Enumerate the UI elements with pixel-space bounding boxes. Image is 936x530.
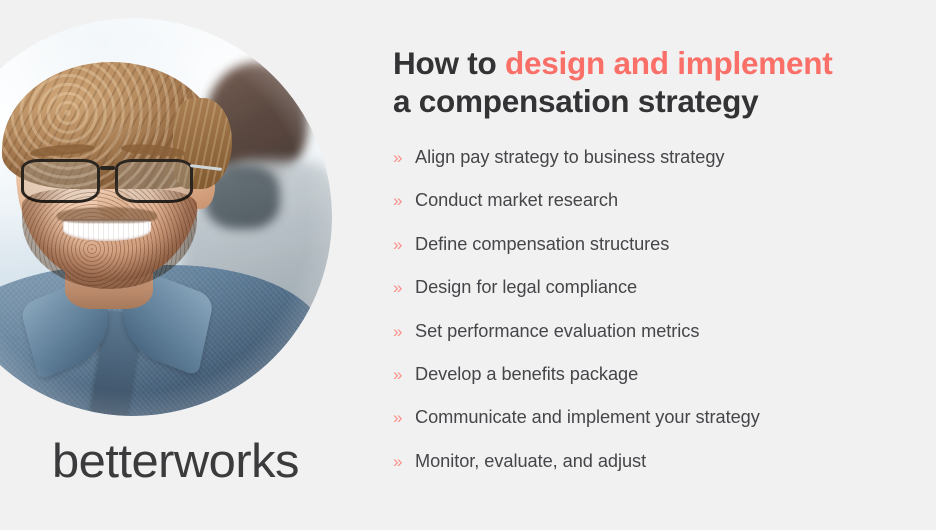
chevron-double-right-icon: » xyxy=(393,364,415,386)
list-item: » Monitor, evaluate, and adjust xyxy=(393,450,913,473)
steps-list: » Align pay strategy to business strateg… xyxy=(393,146,913,473)
slide-canvas: betterworks How to design and implement … xyxy=(0,0,936,530)
glasses-bridge xyxy=(100,166,115,169)
chevron-double-right-icon: » xyxy=(393,147,415,169)
content-column: How to design and implement a compensati… xyxy=(393,44,913,493)
chevron-double-right-icon: » xyxy=(393,407,415,429)
list-item: » Design for legal compliance xyxy=(393,276,913,299)
chevron-double-right-icon: » xyxy=(393,451,415,473)
betterworks-logo: betterworks xyxy=(52,437,299,484)
list-item-label: Monitor, evaluate, and adjust xyxy=(415,450,646,472)
list-item-label: Communicate and implement your strategy xyxy=(415,406,760,428)
chevron-double-right-icon: » xyxy=(393,277,415,299)
list-item-label: Conduct market research xyxy=(415,189,618,211)
list-item: » Align pay strategy to business strateg… xyxy=(393,146,913,169)
list-item: » Develop a benefits package xyxy=(393,363,913,386)
list-item: » Communicate and implement your strateg… xyxy=(393,406,913,429)
chevron-double-right-icon: » xyxy=(393,234,415,256)
list-item: » Set performance evaluation metrics xyxy=(393,320,913,343)
list-item: » Define compensation structures xyxy=(393,233,913,256)
title-line2: a compensation strategy xyxy=(393,83,758,119)
list-item: » Conduct market research xyxy=(393,189,913,212)
title-line1-accent: design and implement xyxy=(505,45,833,81)
list-item-label: Design for legal compliance xyxy=(415,276,637,298)
portrait-photo xyxy=(0,18,332,416)
list-item-label: Define compensation structures xyxy=(415,233,669,255)
mustache xyxy=(57,207,157,223)
list-item-label: Set performance evaluation metrics xyxy=(415,320,699,342)
title-line1-plain: How to xyxy=(393,45,505,81)
list-item-label: Develop a benefits package xyxy=(415,363,638,385)
chevron-double-right-icon: » xyxy=(393,190,415,212)
list-item-label: Align pay strategy to business strategy xyxy=(415,146,724,168)
chevron-double-right-icon: » xyxy=(393,321,415,343)
page-title: How to design and implement a compensati… xyxy=(393,44,913,120)
portrait-circle xyxy=(0,18,332,416)
